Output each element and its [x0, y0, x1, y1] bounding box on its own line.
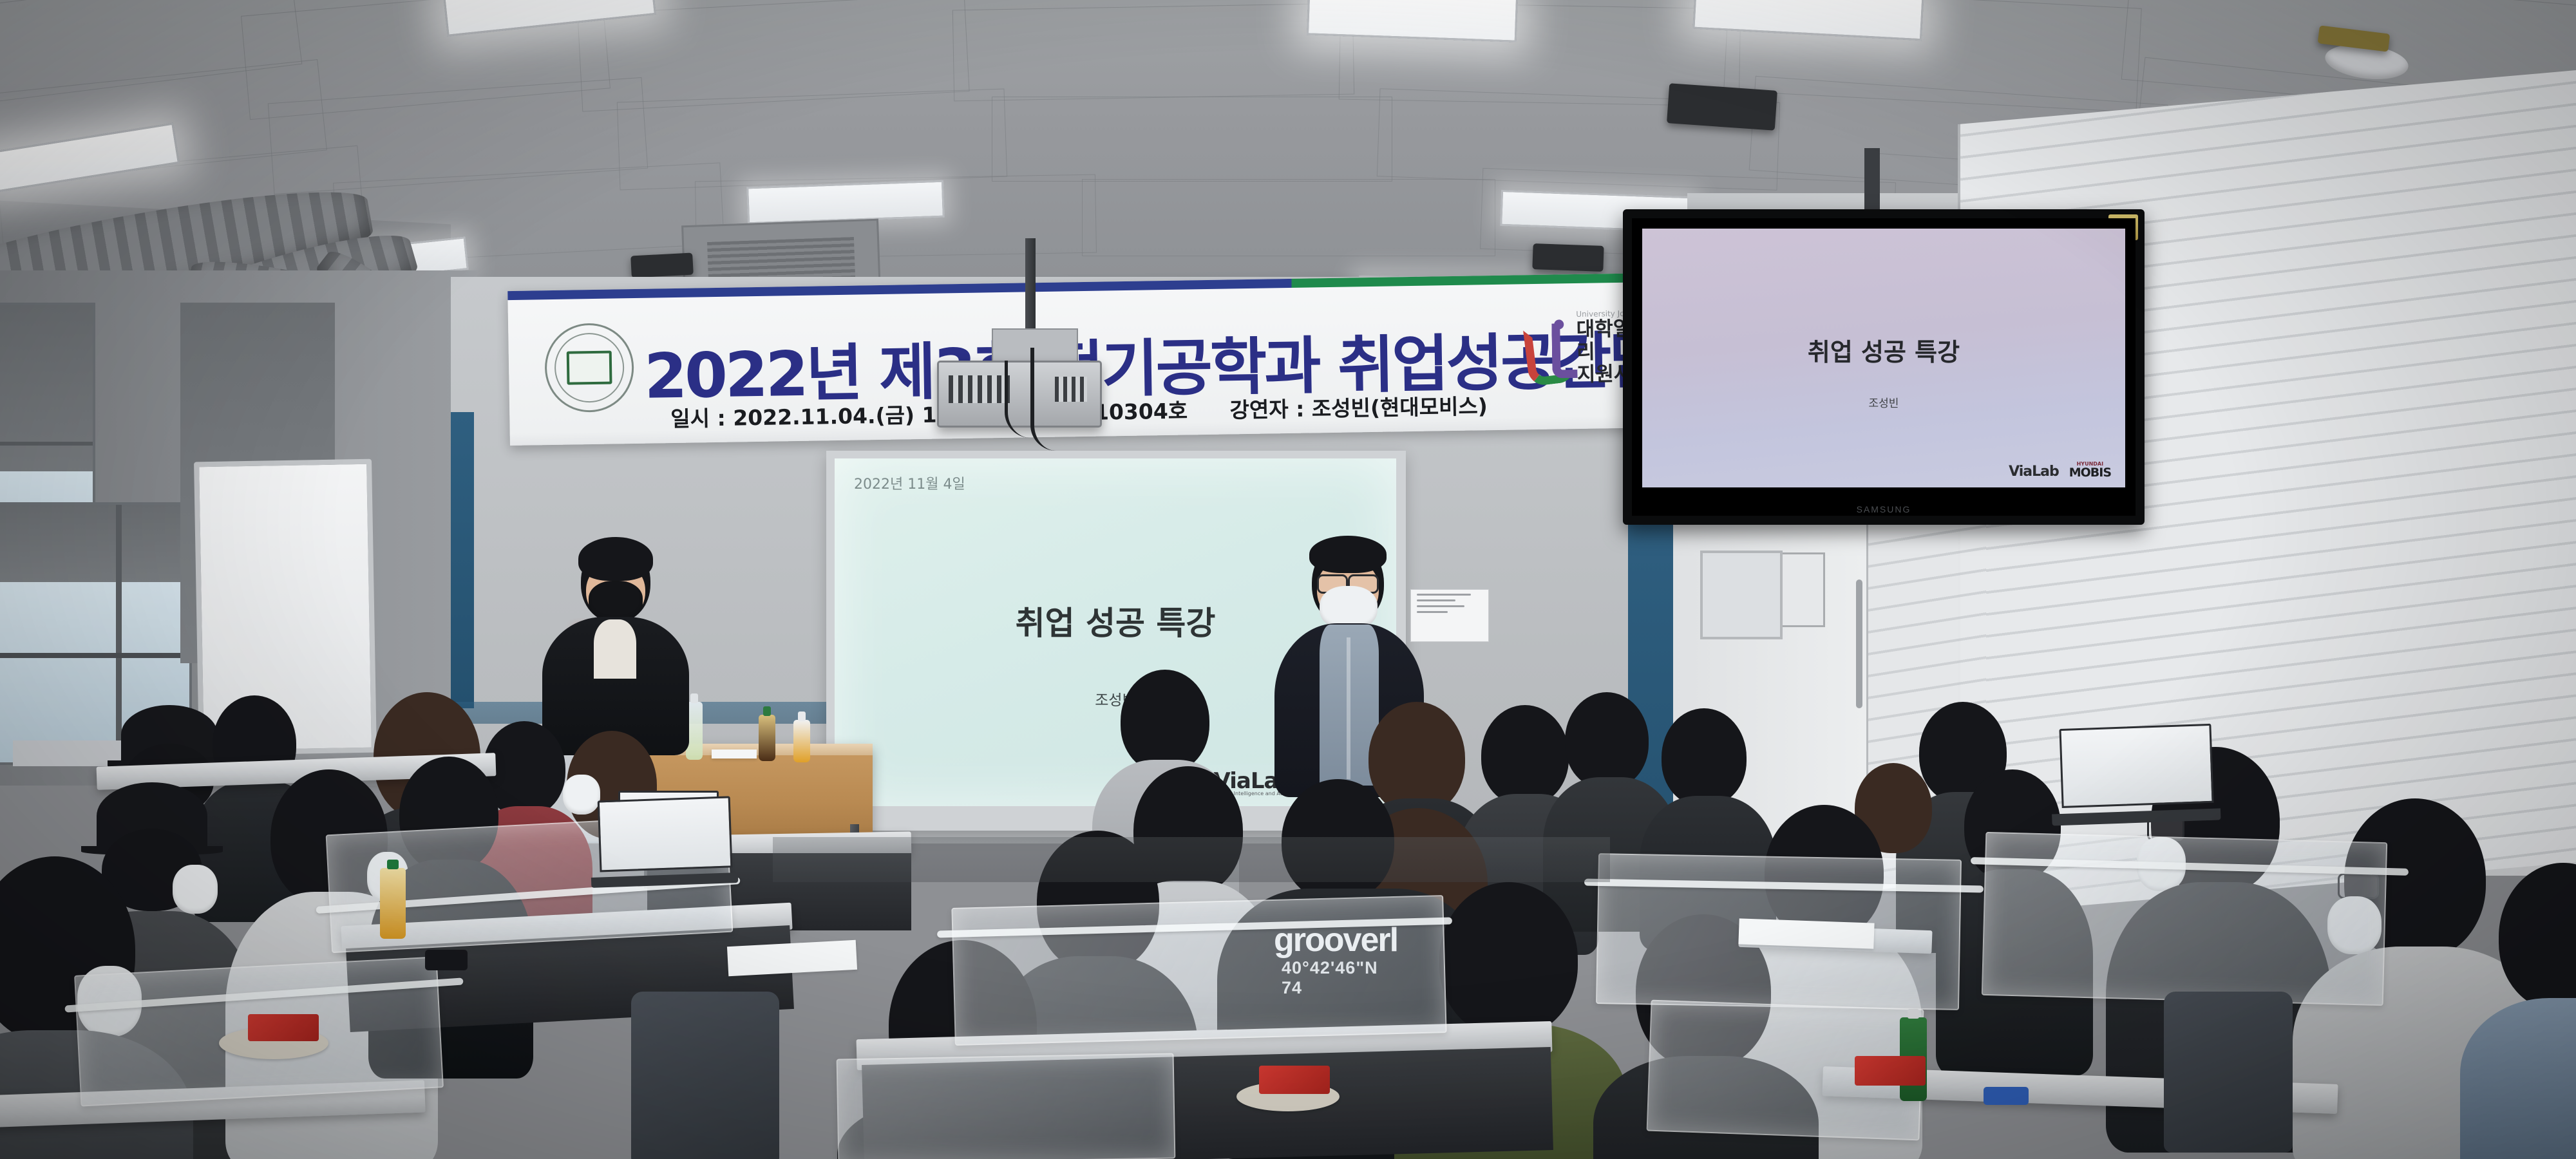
tv-vialab-logo-text: ViaLab — [2009, 464, 2059, 480]
slide-date: 2022년 11월 4일 — [854, 473, 965, 493]
projector-cable — [1005, 361, 1034, 438]
floor — [773, 837, 1610, 882]
snack-package[interactable] — [248, 1014, 319, 1041]
university-emblem-icon — [544, 323, 634, 413]
audience-head — [1662, 708, 1747, 806]
banner-speaker: 강연자 : 조성빈(현대모비스) — [1229, 393, 1488, 422]
tv-slide-logos: ViaLab HYUNDAI MOBIS — [2009, 462, 2111, 478]
laptop[interactable] — [2059, 724, 2210, 825]
snack-package[interactable] — [1259, 1066, 1330, 1094]
acrylic-divider — [951, 895, 1446, 1046]
tv-slide-presenter: 조성빈 — [1642, 394, 2125, 410]
snack-package[interactable] — [1855, 1056, 1926, 1086]
ceiling-speaker — [630, 253, 694, 278]
juice-bottle[interactable] — [380, 868, 406, 939]
juice-bottle[interactable] — [793, 720, 810, 762]
ceiling-light — [746, 180, 945, 225]
tv-bezel: 취업 성공 특강 조성빈 ViaLab HYUNDAI MOBIS — [1632, 218, 2136, 516]
acrylic-divider — [1982, 832, 2387, 1006]
tv-slide: 취업 성공 특강 조성빈 ViaLab HYUNDAI MOBIS — [1642, 229, 2125, 487]
backpack — [631, 992, 779, 1159]
tv-mobis-logo: HYUNDAI MOBIS — [2069, 462, 2111, 478]
table-paper — [712, 749, 757, 759]
speaker-shirt-placket — [1347, 637, 1350, 779]
coffee-bottle[interactable] — [759, 715, 775, 761]
tv-vialab-logo: ViaLab — [2009, 466, 2059, 478]
ceiling-speaker — [1667, 83, 1777, 131]
handout-paper[interactable] — [1738, 918, 1874, 948]
tv-brand-label: SAMSUNG — [1623, 504, 2145, 514]
audience-head — [1121, 670, 1209, 773]
ceiling-light — [1307, 0, 1518, 42]
wall-access-panel — [1700, 551, 1783, 639]
backpack — [2164, 992, 2293, 1153]
wall-tv: 취업 성공 특강 조성빈 ViaLab HYUNDAI MOBIS SAMSUN… — [1623, 209, 2145, 525]
lecture-room-photo: 2022년 제3회 전기공학과 취업성공간담회 일시 : 2022.11.04.… — [0, 0, 2576, 1159]
handout-paper[interactable] — [727, 940, 857, 976]
audience-head — [1439, 882, 1578, 1037]
audience-face-mask — [563, 775, 600, 815]
uj-mark-icon — [1526, 322, 1571, 375]
tv-slide-title: 취업 성공 특강 — [1642, 332, 2125, 368]
tv-mobis-logo-main: MOBIS — [2069, 467, 2111, 478]
host-person — [535, 541, 696, 753]
audience-head — [1368, 702, 1465, 815]
laptop[interactable] — [598, 796, 730, 888]
audience-head — [1565, 692, 1649, 789]
projector-cable — [1030, 348, 1073, 451]
door-handle[interactable] — [1856, 579, 1862, 708]
ceiling-tile — [952, 3, 1354, 102]
projector-rod — [1025, 238, 1036, 335]
smartphone[interactable] — [1984, 1087, 2029, 1105]
host-hair — [578, 537, 653, 581]
wall-trim — [451, 412, 474, 708]
acrylic-divider — [837, 1053, 1176, 1159]
host-inner-shirt — [594, 619, 636, 679]
ceiling-tile — [992, 97, 1392, 182]
ceiling-speaker — [1532, 243, 1604, 272]
speaker-hair — [1309, 536, 1387, 573]
host-face-mask — [589, 581, 643, 621]
tv-mount — [1864, 148, 1880, 219]
audience-head — [1481, 705, 1569, 806]
audience-face-mask — [173, 865, 218, 914]
smartphone[interactable] — [425, 950, 468, 970]
ceiling-tile — [1082, 179, 1495, 256]
